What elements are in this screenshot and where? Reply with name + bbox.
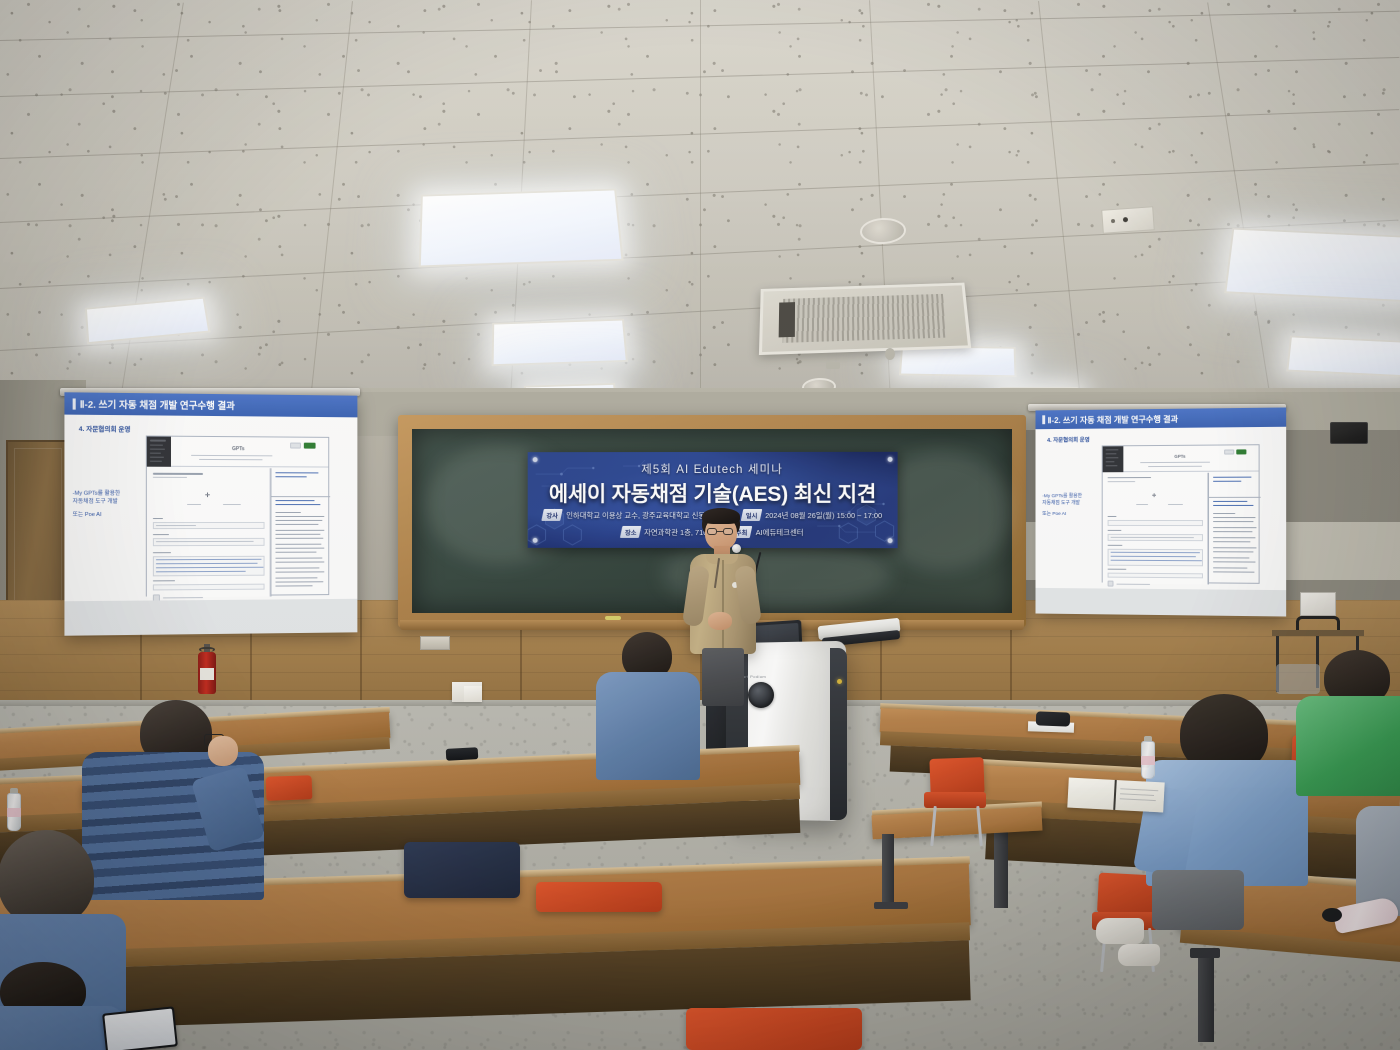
slide-subheader: 4. 자문협의회 운영 xyxy=(1047,436,1090,444)
ceiling-light-panel xyxy=(899,345,1017,377)
presenter-glasses-bridge xyxy=(717,531,723,532)
attendee-torso xyxy=(596,672,700,780)
presenter-shirt-placket xyxy=(722,560,724,652)
fire-extinguisher-icon xyxy=(198,642,216,694)
slide-note-line-1: -My GPTs를 활용한 xyxy=(73,490,140,499)
right-projection-screen: Ⅱ-2. 쓰기 자동 채점 개발 연구수행 결과 4. 자문협의회 운영 -My… xyxy=(1028,404,1286,618)
presenter-hands xyxy=(708,612,732,630)
slide-note-line-2: 자동채점 도구 개발 xyxy=(1042,500,1098,507)
notebook[interactable] xyxy=(1067,778,1164,813)
ceiling-light-panel xyxy=(419,189,624,268)
presenter-glasses-icon xyxy=(723,528,733,535)
attendee-legs xyxy=(1152,870,1244,930)
chair[interactable] xyxy=(536,882,666,922)
banner-tag-speaker: 강사 xyxy=(542,509,564,521)
attendee-shoe xyxy=(1118,944,1160,966)
presenter-trousers xyxy=(702,648,744,706)
slide-note-line-3: 또는 Poe AI xyxy=(73,511,140,520)
wall-speaker-icon xyxy=(1330,422,1368,444)
chair[interactable] xyxy=(922,758,992,848)
slide-left-note: -My GPTs를 활용한 자동채점 도구 개발 또는 Poe AI xyxy=(73,490,140,520)
attendee-hand xyxy=(208,736,238,766)
attendee-head xyxy=(0,830,94,926)
laptop-sleeve[interactable] xyxy=(1036,711,1070,726)
sprinkler-head-icon xyxy=(885,348,895,360)
ceiling-ac-vent xyxy=(759,283,971,355)
left-projection-screen: Ⅱ-2. 쓰기 자동 채점 개발 연구수행 결과 4. 자문협의회 운영 -My… xyxy=(60,388,360,638)
slide-note-line-2: 자동채점 도구 개발 xyxy=(73,498,140,507)
lecture-hall-photo: 제5회 AI Edutech 세미나 에세이 자동채점 기술(AES) 최신 지… xyxy=(0,0,1400,1050)
slide-screenshot-frame: GPTs ✛ xyxy=(1102,444,1260,584)
slide-content: Ⅱ-2. 쓰기 자동 채점 개발 연구수행 결과 4. 자문협의회 운영 -My… xyxy=(1035,407,1286,616)
banner-tag-location: 장소 xyxy=(619,526,641,538)
lectern-status-led xyxy=(837,679,842,684)
presenter-glasses-icon xyxy=(707,528,717,535)
chalk-icon xyxy=(605,616,621,620)
slide-mini-logo: GPTs xyxy=(147,446,328,453)
attendee-bottom-left xyxy=(0,962,120,1050)
attendee-center-blue xyxy=(592,632,704,792)
desk-small-object[interactable] xyxy=(446,747,479,761)
ceiling-light-panel xyxy=(492,319,628,366)
ceiling-light-panel xyxy=(1224,228,1400,302)
presenter-hair xyxy=(702,508,740,524)
folded-umbrella[interactable] xyxy=(1320,898,1400,942)
chair[interactable] xyxy=(686,1008,866,1050)
slide-mini-logo: GPTs xyxy=(1103,453,1259,459)
water-bottle[interactable] xyxy=(1140,736,1156,780)
slide-header-text: Ⅱ-2. 쓰기 자동 채점 개발 연구수행 결과 xyxy=(80,396,235,412)
attendee-right-green xyxy=(1296,650,1400,790)
storage-box xyxy=(1300,592,1336,616)
slide-left-note: -My GPTs를 활용한 자동채점 도구 개발 또는 Poe AI xyxy=(1042,493,1098,518)
ceiling xyxy=(0,0,1400,430)
slide-subheader: 4. 자문협의회 운영 xyxy=(79,423,131,434)
attendee-torso xyxy=(1296,696,1400,796)
slide-header-text: Ⅱ-2. 쓰기 자동 채점 개발 연구수행 결과 xyxy=(1048,412,1179,425)
ceiling-tile-grid xyxy=(0,0,1400,430)
slide-note-line-1: -My GPTs를 활용한 xyxy=(1042,493,1098,500)
banner-title: 에세이 자동채점 기술(AES) 최신 지견 xyxy=(528,478,898,508)
sprinkler-head-icon xyxy=(826,362,840,369)
attendee-shoe xyxy=(1096,918,1144,944)
chair-navy[interactable] xyxy=(404,842,524,912)
slide-note-line-3: 또는 Poe AI xyxy=(1042,511,1098,518)
wall-outlet-icon xyxy=(420,636,450,650)
slide-screenshot-frame: GPTs ✛ xyxy=(146,435,329,596)
ceiling-light-panel xyxy=(1286,336,1400,377)
smartphone[interactable] xyxy=(102,1006,178,1050)
water-bottle[interactable] xyxy=(6,788,22,832)
banner-supertitle: 제5회 AI Edutech 세미나 xyxy=(528,461,898,477)
desk-paper-box xyxy=(464,686,482,702)
lectern-edge-trim xyxy=(830,648,847,820)
ceiling-access-panel xyxy=(1101,206,1155,234)
